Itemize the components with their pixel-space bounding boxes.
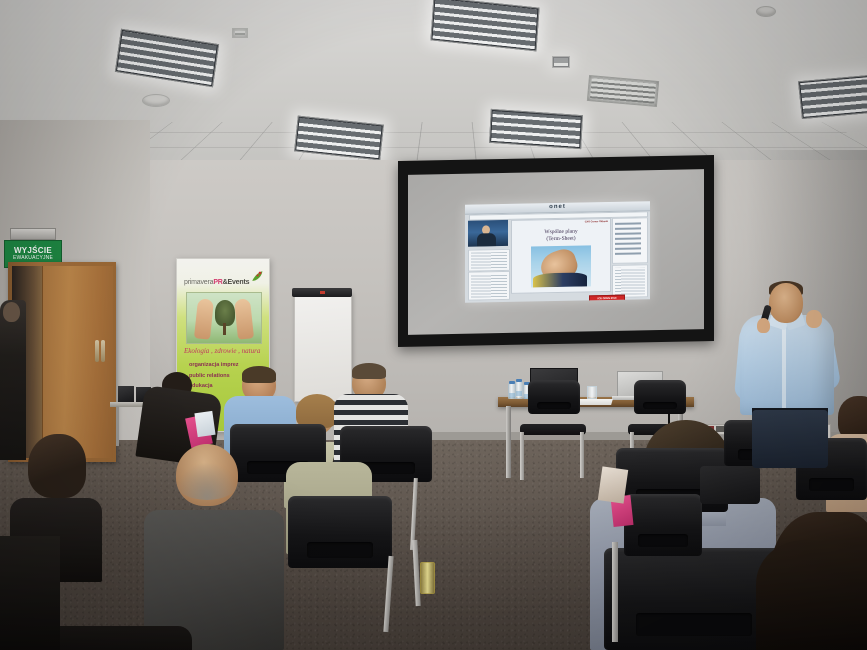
- exit-sign-light-bar: [10, 228, 56, 240]
- bag-on-floor[interactable]: [700, 466, 760, 504]
- chair-leg: [580, 432, 584, 478]
- side-table-leg: [116, 406, 119, 446]
- person-in-doorway: [0, 300, 26, 460]
- chair-leg: [612, 542, 618, 642]
- speaker-hand-holding-mic: [757, 318, 770, 333]
- text-lines: [615, 267, 645, 295]
- text-lines: [471, 274, 507, 298]
- chair-back[interactable]: [288, 496, 392, 568]
- audience-person-edge-left: [0, 536, 60, 650]
- banner-photo-hands-tree: [186, 292, 262, 344]
- air-vent: [587, 75, 659, 107]
- audience-person-hair-mass: [756, 540, 867, 650]
- air-vent: [232, 28, 248, 38]
- chair-back[interactable]: [634, 380, 686, 414]
- hand-left: [194, 298, 214, 339]
- slide-header: CXO Corner Okbook: [585, 220, 608, 223]
- drinking-glass[interactable]: [587, 386, 597, 399]
- ceiling-light-panel: [798, 75, 867, 119]
- speaker-shirt: [740, 315, 834, 415]
- banner-logo: primaveraPR&Events: [184, 279, 262, 286]
- ceiling-light-panel: [430, 0, 539, 51]
- hair: [50, 534, 166, 638]
- av-equipment-box: [118, 386, 134, 402]
- ceiling-light-panel: [552, 56, 570, 68]
- video-speaker-body: [477, 233, 496, 246]
- speaker-shirt-placket: [782, 322, 786, 414]
- event-badge: ICE OPEN 2010 TNS Keynote'09 Warszawa, 2…: [589, 295, 625, 303]
- ceiling-light-panel: [115, 29, 219, 88]
- hair: [242, 366, 276, 383]
- person-in-doorway-head: [3, 302, 20, 322]
- table-leg: [506, 406, 511, 478]
- cloth-bag: [598, 466, 628, 503]
- comments-panel: [468, 271, 510, 301]
- hand-right: [234, 298, 254, 339]
- speaker-gesturing-hand: [806, 310, 822, 328]
- projected-browser-window: onet: [465, 201, 650, 303]
- browser-brand-logo: onet: [549, 204, 566, 210]
- leaflet: [194, 411, 215, 437]
- water-bottle[interactable]: [515, 381, 523, 399]
- door-handle[interactable]: [101, 340, 105, 362]
- flipchart-top-bar: [292, 288, 352, 297]
- chair-leg: [520, 432, 524, 480]
- banner-logo-accent: PR: [213, 279, 222, 286]
- slide-title-line2: (Term-Sheet): [512, 235, 610, 244]
- chair-seat: [520, 424, 586, 435]
- hair-fringe: [174, 462, 240, 500]
- flipchart-board: [294, 292, 352, 402]
- chair-back[interactable]: [528, 380, 580, 414]
- smoke-detector: [142, 94, 170, 107]
- speaker-trousers: [752, 410, 828, 468]
- tree-trunk: [223, 323, 226, 335]
- projection-screen-frame: onet: [398, 155, 714, 347]
- exit-sign-line2: EWAKUACYJNE: [13, 256, 53, 261]
- sidebar-secondary-panel: [612, 264, 648, 298]
- projection-screen-surface: onet: [408, 169, 704, 335]
- banner-tagline: Ekologia , zdrowie , natura: [184, 347, 264, 355]
- video-player: [468, 220, 508, 247]
- banner-logo-prefix: primavera: [184, 279, 213, 286]
- ceiling-light-panel: [489, 109, 583, 149]
- text-lines: [471, 252, 507, 269]
- door-handle[interactable]: [95, 340, 99, 362]
- sidebar-column: [612, 217, 646, 296]
- slide-photo: [531, 245, 591, 287]
- browser-content: CXO Corner Okbook Wspólne plany (Term-Sh…: [465, 217, 650, 303]
- video-column: [468, 220, 508, 299]
- slide-title: Wspólne plany (Term-Sheet): [512, 228, 610, 244]
- badge-line2: TNS Keynote'09: [590, 300, 624, 303]
- presentation-slide: CXO Corner Okbook Wspólne plany (Term-Sh…: [511, 218, 611, 294]
- conference-room-photo: WYJŚCIE EWAKUACYJNE onet: [0, 0, 867, 650]
- banner-logo-suffix: &Events: [223, 279, 250, 286]
- speaker-head: [769, 283, 803, 323]
- flipchart-brand-dot: [320, 291, 325, 294]
- wooden-door[interactable]: [42, 266, 113, 458]
- slide-photo-scarf: [533, 272, 587, 287]
- juice-bottle[interactable]: [420, 562, 435, 594]
- hair: [352, 363, 386, 379]
- video-description-panel: [468, 249, 510, 272]
- hair: [28, 434, 86, 498]
- sidebar-menu: [612, 217, 648, 264]
- chair-back[interactable]: [624, 494, 702, 556]
- hair: [296, 394, 338, 428]
- smoke-detector: [756, 6, 776, 17]
